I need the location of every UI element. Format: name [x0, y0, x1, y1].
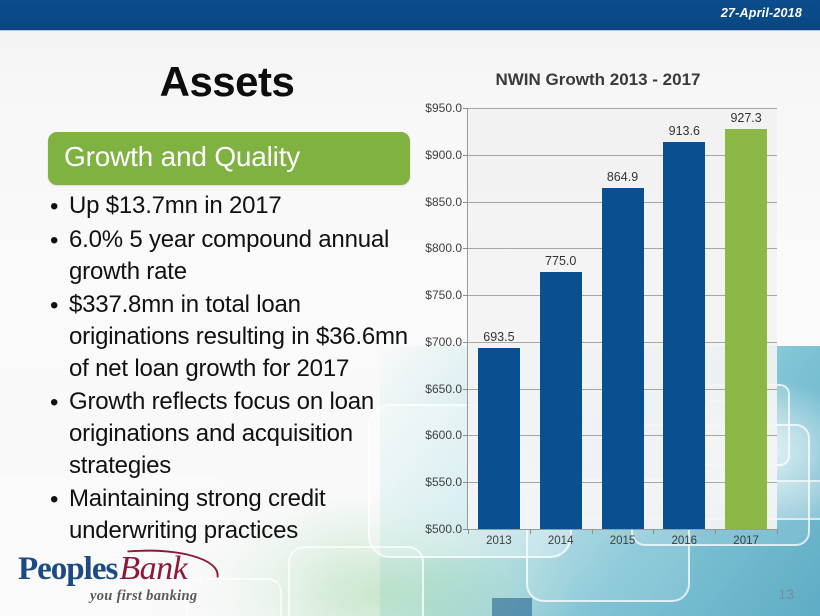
list-item: • Growth reflects focus on loan originat…: [50, 386, 418, 482]
chart-y-tick-label: $650.0: [425, 382, 462, 396]
chart-bar-fill: [540, 272, 582, 529]
chart-y-tick-mark: [463, 248, 468, 249]
chart-y-tick-label: $900.0: [425, 148, 462, 162]
chart-bar[interactable]: 775.02014: [540, 108, 582, 529]
bullet-icon: •: [50, 224, 69, 257]
chart-y-tick-label: $500.0: [425, 522, 462, 536]
chart-bar[interactable]: 927.32017: [725, 108, 767, 529]
list-item: • $337.8mn in total loan originations re…: [50, 289, 418, 385]
chart-y-tick-mark: [463, 295, 468, 296]
list-item-text: $337.8mn in total loan originations resu…: [69, 289, 418, 385]
chart-bar[interactable]: 913.62016: [663, 108, 705, 529]
chart-bar-value-label: 775.0: [545, 254, 576, 268]
chart-bar-value-label: 864.9: [607, 170, 638, 184]
chart-x-tick-label: 2014: [548, 535, 574, 547]
list-item: • 6.0% 5 year compound annual growth rat…: [50, 224, 418, 288]
chart-x-tick-label: 2013: [486, 535, 512, 547]
chart-y-tick-label: $800.0: [425, 241, 462, 255]
chart-x-tick-label: 2017: [733, 535, 759, 547]
chart-title: NWIN Growth 2013 - 2017: [418, 70, 778, 90]
chart-x-tick-mark: [653, 529, 654, 534]
list-item-text: Up $13.7mn in 2017: [69, 190, 418, 222]
chart-y-tick-label: $550.0: [425, 475, 462, 489]
chart-x-tick-mark: [777, 529, 778, 534]
bullet-icon: •: [50, 190, 69, 223]
bullet-list: • Up $13.7mn in 2017 • 6.0% 5 year compo…: [50, 190, 418, 548]
chart-y-tick-mark: [463, 342, 468, 343]
chart-x-tick-label: 2016: [672, 535, 698, 547]
chart-bar-fill: [478, 348, 520, 529]
bullet-icon: •: [50, 386, 69, 419]
chart-y-tick-label: $950.0: [425, 101, 462, 115]
logo-tagline: you first banking: [90, 588, 197, 605]
slide: 27-April-2018 Assets Growth and Quality …: [0, 0, 820, 616]
chart-y-tick-label: $850.0: [425, 195, 462, 209]
bullet-icon: •: [50, 289, 69, 322]
chart-y-tick-label: $750.0: [425, 288, 462, 302]
header-date: 27-April-2018: [721, 6, 802, 20]
section-banner-label: Growth and Quality: [64, 141, 300, 173]
chart-bar[interactable]: 864.92015: [602, 108, 644, 529]
bullet-icon: •: [50, 483, 69, 516]
chart-y-tick-mark: [463, 389, 468, 390]
logo-word-primary: Peoples: [18, 551, 117, 587]
chart-bar-fill: [663, 142, 705, 529]
chart-x-tick-mark: [530, 529, 531, 534]
list-item-text: Maintaining strong credit underwriting p…: [69, 483, 418, 547]
chart-y-tick-mark: [463, 108, 468, 109]
logo-swoosh-icon: [127, 546, 219, 583]
chart-y-tick-mark: [463, 202, 468, 203]
chart-x-tick-mark: [715, 529, 716, 534]
page-title: Assets: [38, 58, 416, 106]
bar-chart: NWIN Growth 2013 - 2017 $500.0$550.0$600…: [418, 62, 808, 540]
chart-bar-fill: [602, 188, 644, 529]
header-bar: 27-April-2018: [0, 0, 820, 30]
chart-x-tick-label: 2015: [610, 535, 636, 547]
list-item-text: Growth reflects focus on loan originatio…: [69, 386, 418, 482]
chart-x-tick-mark: [468, 529, 469, 534]
chart-bar-value-label: 913.6: [669, 124, 700, 138]
list-item: • Up $13.7mn in 2017: [50, 190, 418, 223]
chart-y-tick-mark: [463, 435, 468, 436]
section-banner: Growth and Quality: [48, 132, 410, 185]
chart-y-tick-label: $600.0: [425, 428, 462, 442]
chart-y-tick-mark: [463, 482, 468, 483]
page-number: 13: [778, 586, 794, 602]
chart-plot-area: $500.0$550.0$600.0$650.0$700.0$750.0$800…: [467, 108, 777, 530]
chart-bar-fill: [725, 129, 767, 529]
deco-dark-block: [492, 598, 532, 616]
chart-bar-value-label: 693.5: [483, 330, 514, 344]
deco-rounded-rect: [288, 546, 424, 616]
brand-logo: PeoplesBank you first banking: [18, 550, 228, 604]
chart-x-tick-mark: [592, 529, 593, 534]
chart-y-tick-mark: [463, 155, 468, 156]
chart-bar-value-label: 927.3: [730, 111, 761, 125]
list-item: • Maintaining strong credit underwriting…: [50, 483, 418, 547]
list-item-text: 6.0% 5 year compound annual growth rate: [69, 224, 418, 288]
chart-y-tick-label: $700.0: [425, 335, 462, 349]
chart-bar[interactable]: 693.52013: [478, 108, 520, 529]
